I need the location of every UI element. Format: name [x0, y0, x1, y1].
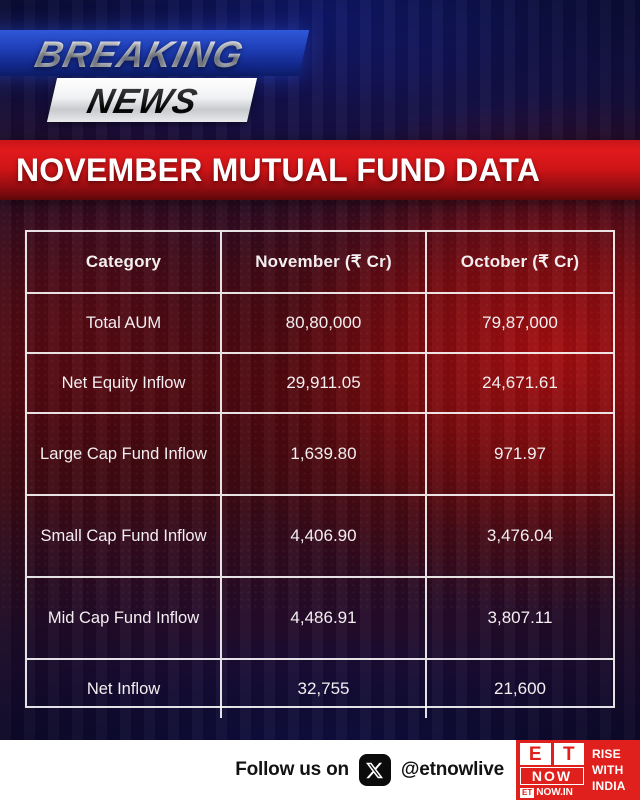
mutual-fund-table: Category November (₹ Cr) October (₹ Cr) …	[25, 230, 615, 708]
table-header-row: Category November (₹ Cr) October (₹ Cr)	[27, 232, 613, 292]
cell-october: 24,671.61	[425, 354, 613, 412]
cell-november: 4,406.90	[220, 496, 425, 576]
title-banner: NOVEMBER MUTUAL FUND DATA	[0, 140, 640, 200]
cell-october: 3,807.11	[425, 578, 613, 658]
cell-october: 21,600	[425, 660, 613, 718]
column-header-category: Category	[27, 232, 220, 292]
logo-domain-suffix: NOW.IN	[536, 788, 573, 798]
news-label: NEWS	[83, 82, 201, 122]
etnow-logo: E T NOW ET NOW.IN RISE WITH INDIA	[516, 740, 640, 800]
tagline-line-2: WITH	[592, 763, 640, 778]
logo-now-text: NOW	[520, 767, 584, 785]
etnow-tagline: RISE WITH INDIA	[588, 740, 640, 800]
breaking-news-badge: BREAKING NEWS	[0, 22, 330, 134]
tagline-line-3: INDIA	[592, 779, 640, 794]
cell-category: Mid Cap Fund Inflow	[27, 578, 220, 658]
column-header-october: October (₹ Cr)	[425, 232, 613, 292]
cell-category: Net Inflow	[27, 660, 220, 718]
breaking-label: BREAKING	[31, 34, 248, 76]
cell-category: Large Cap Fund Inflow	[27, 414, 220, 494]
poster-root: BREAKING NEWS NOVEMBER MUTUAL FUND DATA …	[0, 0, 640, 800]
social-handle[interactable]: @etnowlive	[401, 759, 504, 781]
table-row: Mid Cap Fund Inflow 4,486.91 3,807.11	[27, 576, 613, 658]
table-row: Net Equity Inflow 29,911.05 24,671.61	[27, 352, 613, 412]
cell-november: 32,755	[220, 660, 425, 718]
table-row: Net Inflow 32,755 21,600	[27, 658, 613, 718]
cell-category: Small Cap Fund Inflow	[27, 496, 220, 576]
footer-bar: Follow us on @etnowlive E T NOW ET NOW.I…	[0, 740, 640, 800]
cell-october: 79,87,000	[425, 294, 613, 352]
page-title: NOVEMBER MUTUAL FUND DATA	[0, 152, 540, 189]
tagline-line-1: RISE	[592, 747, 640, 762]
logo-letter-e: E	[520, 743, 551, 765]
logo-letter-t: T	[554, 743, 585, 765]
logo-domain: ET NOW.IN	[520, 787, 584, 798]
cell-november: 1,639.80	[220, 414, 425, 494]
logo-domain-prefix: ET	[520, 788, 534, 798]
table-row: Large Cap Fund Inflow 1,639.80 971.97	[27, 412, 613, 494]
column-header-november: November (₹ Cr)	[220, 232, 425, 292]
etnow-logo-mark: E T NOW ET NOW.IN	[516, 740, 588, 800]
cell-october: 3,476.04	[425, 496, 613, 576]
x-twitter-icon[interactable]	[359, 754, 391, 786]
table-row: Total AUM 80,80,000 79,87,000	[27, 292, 613, 352]
cell-category: Net Equity Inflow	[27, 354, 220, 412]
cell-november: 4,486.91	[220, 578, 425, 658]
cell-november: 80,80,000	[220, 294, 425, 352]
cell-october: 971.97	[425, 414, 613, 494]
et-letter-row: E T	[520, 743, 584, 765]
follow-us-label: Follow us on	[235, 759, 349, 781]
cell-november: 29,911.05	[220, 354, 425, 412]
table-row: Small Cap Fund Inflow 4,406.90 3,476.04	[27, 494, 613, 576]
cell-category: Total AUM	[27, 294, 220, 352]
